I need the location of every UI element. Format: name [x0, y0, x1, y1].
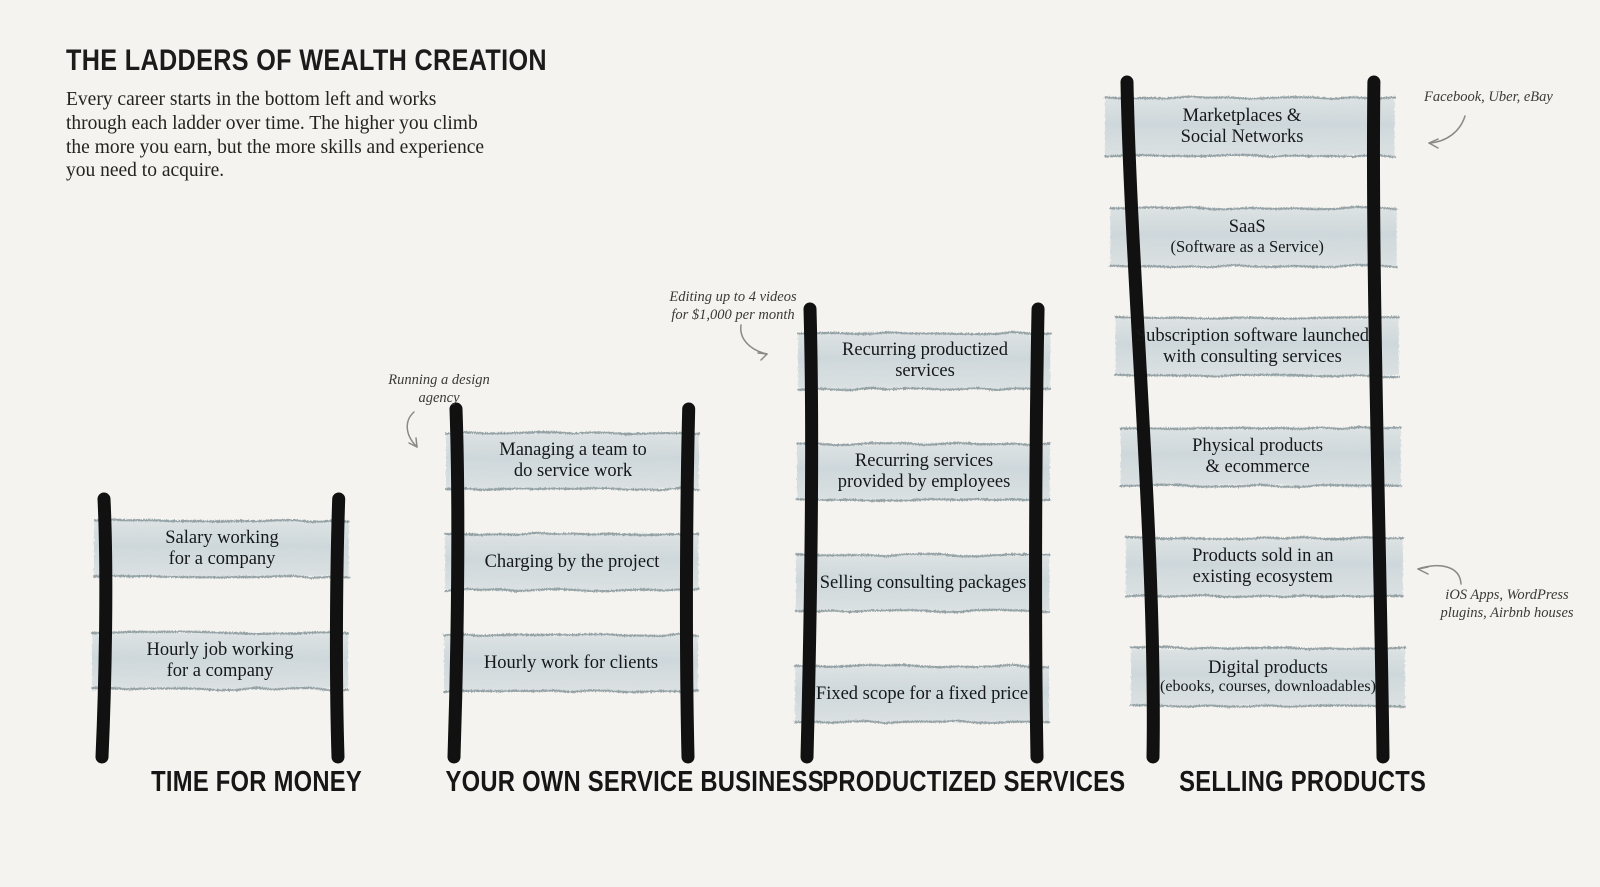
annotation-arrow-ecosystem-examples — [1408, 556, 1478, 596]
annotation-video-editing: Editing up to 4 videos for $1,000 per mo… — [668, 288, 798, 324]
ladder-rail-right — [1036, 309, 1038, 757]
annotation-arrow-design-agency — [400, 408, 450, 458]
ladder-graphic — [440, 415, 745, 785]
ladder-rail-left — [454, 409, 458, 757]
ladder-rung — [798, 331, 1050, 390]
ladder-caption-time-for-money: TIME FOR MONEY — [151, 766, 362, 799]
ladder-graphic — [1125, 88, 1435, 785]
ladder-rail-right — [1373, 82, 1383, 757]
annotation-design-agency: Running a design agency — [384, 371, 494, 407]
ladder-rail-right — [336, 499, 338, 757]
page-subtitle: Every career starts in the bottom left a… — [66, 88, 496, 183]
annotation-arrow-video-editing — [735, 322, 790, 367]
ladder-rail-left — [102, 499, 106, 757]
ladder-rung — [1126, 536, 1403, 597]
page-title: THE LADDERS OF WEALTH CREATION — [66, 44, 427, 78]
ladder-rung — [446, 431, 699, 490]
ladder-rung — [797, 442, 1050, 501]
ladder-rung — [795, 665, 1049, 724]
ladder-rail-left — [807, 309, 812, 757]
ladder-your-own-service-business: Managing a team todo service workChargin… — [440, 415, 705, 745]
ladder-rung — [92, 632, 348, 691]
ladder-rung — [445, 533, 698, 592]
ladder-productized-services: Recurring productizedservicesRecurring s… — [795, 315, 1050, 745]
ladder-graphic — [795, 315, 1090, 785]
annotation-marketplaces-examples: Facebook, Uber, eBay — [1424, 88, 1594, 106]
infographic-canvas: THE LADDERS OF WEALTH CREATION Every car… — [0, 0, 1600, 887]
ladder-rung — [1115, 317, 1398, 377]
ladder-rung — [444, 634, 698, 693]
ladder-graphic — [90, 505, 395, 785]
ladder-rail-right — [686, 409, 688, 757]
annotation-arrow-marketplaces-examples — [1420, 112, 1480, 157]
ladder-rung — [1131, 647, 1405, 707]
ladder-rung — [94, 519, 349, 578]
ladder-rung — [796, 553, 1049, 612]
ladder-caption-selling-products: SELLING PRODUCTS — [1179, 766, 1426, 799]
ladder-caption-your-own-service-business: YOUR OWN SERVICE BUSINESS — [446, 766, 824, 799]
ladder-rung — [1105, 97, 1395, 158]
header-block: THE LADDERS OF WEALTH CREATION Every car… — [66, 44, 496, 183]
ladder-rung — [1110, 207, 1397, 268]
ladder-caption-productized-services: PRODUCTIZED SERVICES — [822, 766, 1125, 799]
ladder-rung — [1121, 426, 1401, 487]
ladder-selling-products: Marketplaces &Social NetworksSaaS(Softwa… — [1125, 88, 1395, 745]
ladder-time-for-money: Salary workingfor a companyHourly job wo… — [90, 505, 355, 745]
